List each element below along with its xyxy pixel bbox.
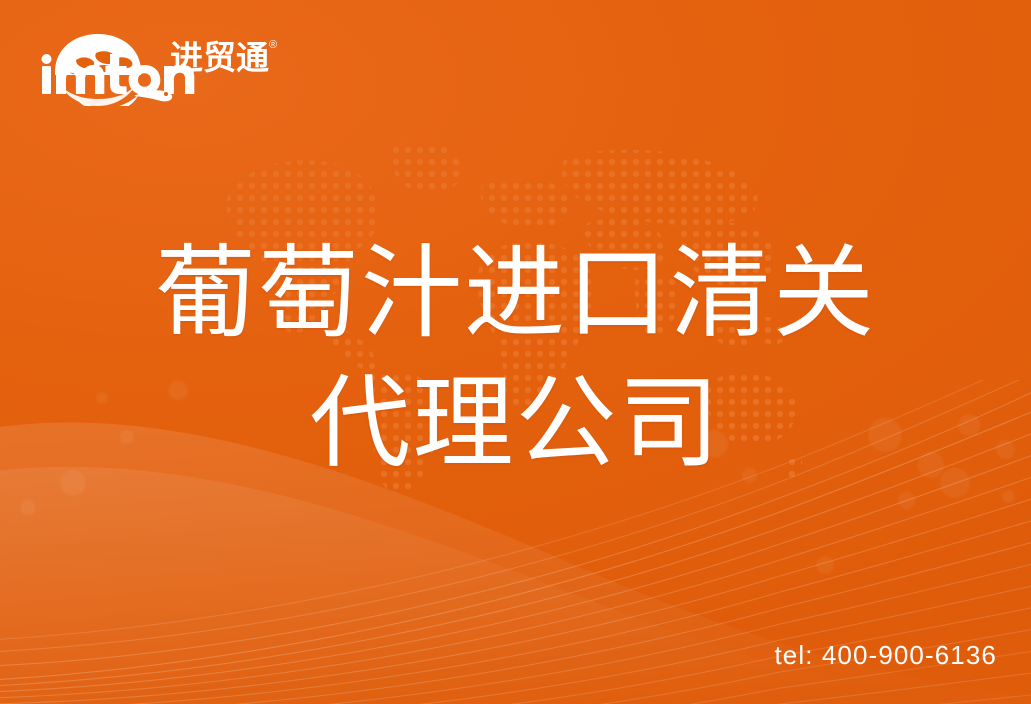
registered-mark: ® xyxy=(269,38,277,52)
promo-banner: 进贸通® 葡萄汁进口清关 代理公司 tel: 400-900-6136 xyxy=(0,0,1031,704)
logo-chinese-name-wrap: 进贸通® xyxy=(170,38,300,82)
contact-telephone[interactable]: tel: 400-900-6136 xyxy=(774,640,997,671)
page-title-line-2: 代理公司 xyxy=(0,358,1031,488)
logo-chinese-name: 进贸通 xyxy=(170,38,269,78)
page-title-line-1: 葡萄汁进口清关 xyxy=(0,228,1031,358)
page-title: 葡萄汁进口清关 代理公司 xyxy=(0,228,1031,488)
